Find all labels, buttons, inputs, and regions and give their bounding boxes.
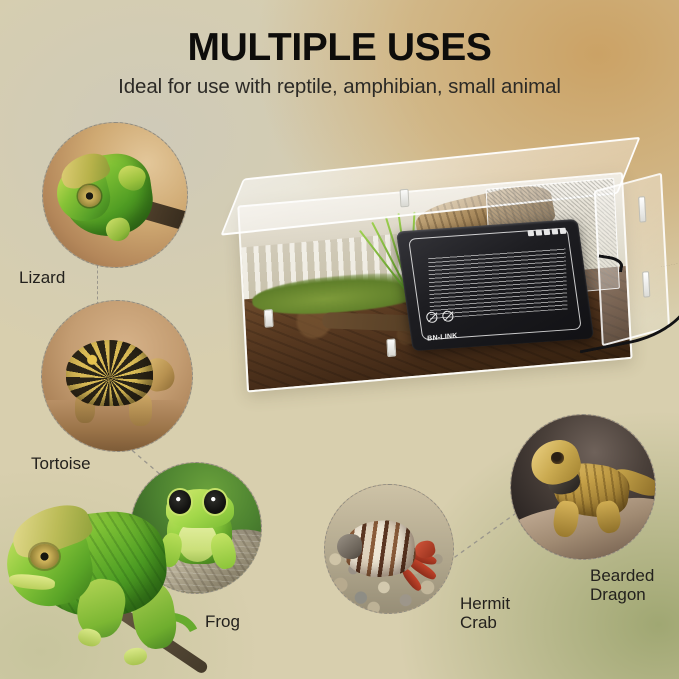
terrarium-clip[interactable]	[264, 309, 274, 328]
tortoise-photo	[42, 301, 192, 451]
bubble-tortoise[interactable]	[41, 300, 193, 452]
bubble-lizard[interactable]	[42, 122, 188, 268]
bubble-hermit-crab[interactable]	[324, 484, 454, 614]
foreground-chameleon	[0, 486, 204, 679]
bubble-label-lizard: Lizard	[19, 268, 65, 287]
terrarium-clip[interactable]	[400, 188, 410, 207]
bubble-label-hermit-crab: Hermit Crab	[460, 594, 510, 632]
bearded-dragon-photo	[511, 415, 655, 559]
heat-mat-panel[interactable]: BN-LINK	[396, 219, 594, 351]
poster-canvas: MULTIPLE USES Ideal for use with reptile…	[0, 0, 679, 679]
hermit-crab-photo	[325, 485, 453, 613]
bubble-bearded-dragon[interactable]	[510, 414, 656, 560]
bubble-label-bearded-dragon: Bearded Dragon	[590, 566, 654, 604]
terrarium-clip[interactable]	[386, 339, 396, 358]
warning-icons	[426, 310, 455, 323]
bubble-label-frog: Frog	[205, 612, 240, 631]
terrarium-product: BN-LINK	[228, 148, 658, 400]
bubble-label-tortoise: Tortoise	[31, 454, 91, 473]
page-title: MULTIPLE USES	[0, 26, 679, 70]
lizard-photo	[43, 123, 187, 267]
heat-mat-fine-print	[429, 246, 569, 318]
terrarium-tank: BN-LINK	[222, 129, 664, 418]
page-subtitle: Ideal for use with reptile, amphibian, s…	[0, 75, 679, 99]
